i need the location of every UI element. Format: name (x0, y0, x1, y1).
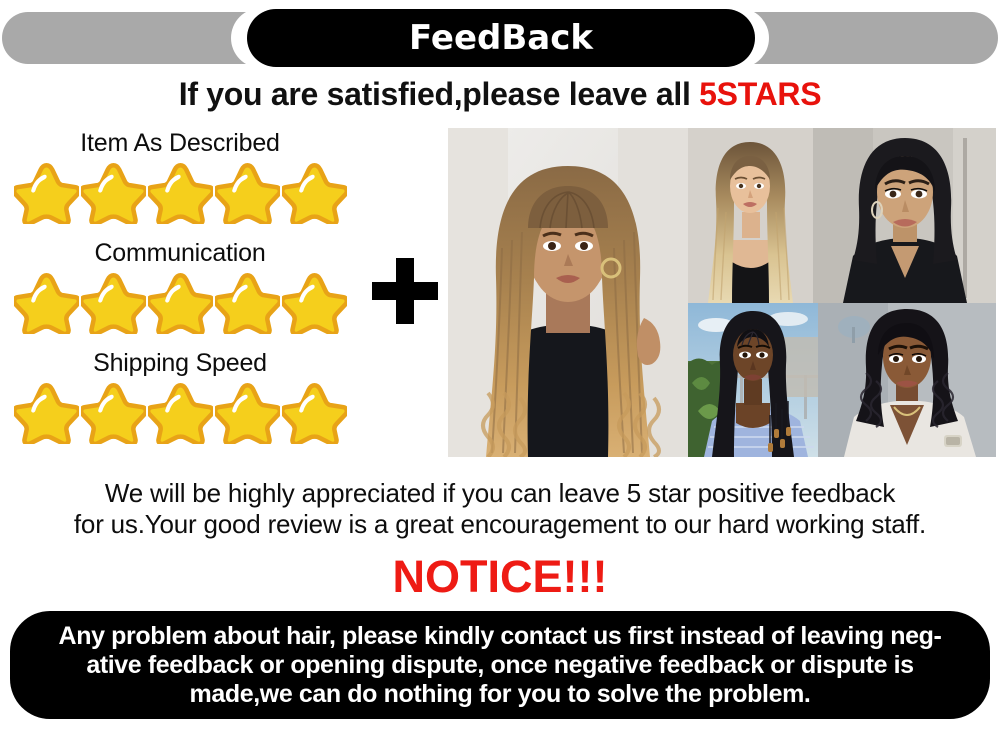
headline-lead-text: If you are satisfied,please leave all (179, 76, 699, 112)
star-icon (282, 272, 347, 334)
photo-grid-right (688, 128, 996, 457)
photo-dark-bob-wig-art (813, 128, 996, 303)
star-icon (148, 382, 213, 444)
plus-icon (372, 258, 438, 324)
header-banner: FeedBack (0, 8, 1000, 68)
star-icon (282, 162, 347, 224)
photo-blonde-ombre-straight-wig-art (688, 128, 813, 303)
star-icon (81, 162, 146, 224)
appreciation-line-1: We will be highly appreciated if you can… (0, 478, 1000, 509)
photo-grid-row-top (688, 128, 996, 303)
appreciation-line-2: for us.Your good review is a great encou… (0, 509, 1000, 540)
star-rating-communication (0, 272, 360, 334)
star-icon (215, 272, 280, 334)
banner-pill: FeedBack (247, 9, 755, 67)
rating-label-communication: Communication (0, 236, 360, 270)
star-icon (148, 272, 213, 334)
star-icon (14, 272, 79, 334)
notice-footer-box: Any problem about hair, please kindly co… (10, 611, 990, 719)
star-icon (14, 162, 79, 224)
photo-box-braids (688, 303, 818, 457)
appreciation-paragraph: We will be highly appreciated if you can… (0, 478, 1000, 540)
banner-title: FeedBack (409, 21, 593, 55)
notice-line-2: ative feedback or opening dispute, once … (86, 651, 913, 680)
photo-box-braids-art (688, 303, 818, 457)
rating-label-shipping-speed: Shipping Speed (0, 346, 360, 380)
photo-long-braided-ombre-hair (448, 128, 688, 457)
notice-line-1: Any problem about hair, please kindly co… (59, 622, 942, 651)
rating-row: Shipping Speed (0, 346, 360, 456)
photo-black-wavy-bob-art (818, 303, 996, 457)
notice-heading: NOTICE!!! (0, 553, 1000, 601)
star-icon (81, 272, 146, 334)
feedback-banner-page: FeedBack If you are satisfied,please lea… (0, 0, 1000, 740)
notice-line-3: made,we can do nothing for you to solve … (190, 680, 811, 709)
star-icon (215, 162, 280, 224)
photo-black-wavy-bob (818, 303, 996, 457)
headline: If you are satisfied,please leave all 5S… (0, 76, 1000, 113)
star-icon (215, 382, 280, 444)
star-icon (81, 382, 146, 444)
photo-blonde-ombre-straight-wig (688, 128, 813, 303)
rating-row: Communication (0, 236, 360, 346)
photo-long-braided-ombre-hair-art (448, 128, 688, 457)
product-photo-collage (448, 128, 996, 457)
rating-label-item-as-described: Item As Described (0, 126, 360, 160)
star-icon (14, 382, 79, 444)
headline-highlight-5stars: 5STARS (699, 76, 821, 112)
star-icon (148, 162, 213, 224)
photo-dark-bob-wig (813, 128, 996, 303)
ratings-panel: Item As Described (0, 126, 360, 456)
star-rating-shipping-speed (0, 382, 360, 444)
star-icon (282, 382, 347, 444)
star-rating-item-as-described (0, 162, 360, 224)
photo-grid-row-bottom (688, 303, 996, 457)
rating-row: Item As Described (0, 126, 360, 236)
